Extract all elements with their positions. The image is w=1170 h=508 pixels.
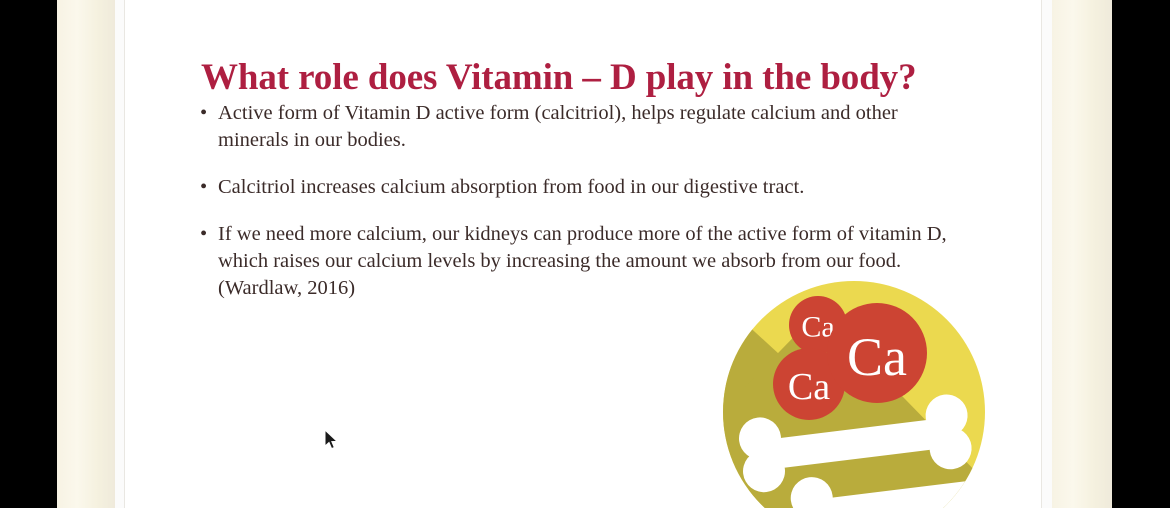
bullet-item-1: • Active form of Vitamin D active form (… [197,100,957,154]
calcium-molecule-large: Ca [827,303,927,403]
bullet-marker-icon: • [200,174,207,201]
calcium-label: Ca [847,327,907,387]
letterbox-bar-left [0,0,57,508]
calcium-label: Ca [788,366,830,408]
screenshot-viewport: What role does Vitamin – D play in the b… [0,0,1170,508]
bullet-marker-icon: • [200,221,207,248]
bullet-marker-icon: • [200,100,207,127]
slide-title: What role does Vitamin – D play in the b… [201,57,1001,100]
bullet-text: Calcitriol increases calcium absorption … [218,176,804,198]
bullet-list: • Active form of Vitamin D active form (… [197,100,957,302]
letterbox-bar-right [1112,0,1170,508]
page-gutter-right [1042,0,1052,508]
slide-edge-right [1041,0,1042,508]
page-margin-left [57,0,115,508]
calcium-bone-illustration: Ca Ca Ca [723,281,985,508]
bullet-text: Active form of Vitamin D active form (ca… [218,102,898,151]
bullet-item-2: • Calcitriol increases calcium absorptio… [197,174,957,201]
page-margin-right [1052,0,1112,508]
presentation-slide: What role does Vitamin – D play in the b… [125,0,1041,508]
